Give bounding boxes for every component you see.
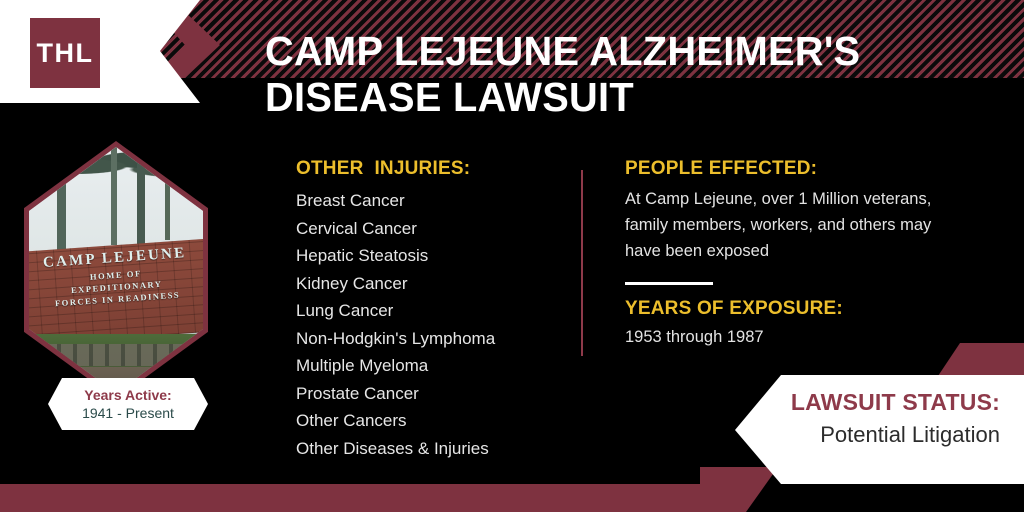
stone-border (29, 344, 203, 366)
lawsuit-status-banner: LAWSUIT STATUS: Potential Litigation (735, 375, 1024, 484)
list-item: Non-Hodgkin's Lymphoma (296, 325, 571, 353)
list-item: Other Cancers (296, 407, 571, 435)
tree-trunk (57, 147, 66, 250)
page-title: CAMP LEJEUNE ALZHEIMER'S DISEASE LAWSUIT (265, 28, 963, 120)
list-item: Lung Cancer (296, 297, 571, 325)
years-active-label: Years Active: (84, 387, 171, 404)
tree-trunk (165, 147, 170, 240)
years-active-value: 1941 - Present (82, 404, 174, 422)
horizontal-divider (625, 282, 713, 285)
lawsuit-status-label: LAWSUIT STATUS: (735, 389, 1000, 416)
people-effected-body: At Camp Lejeune, over 1 Million veterans… (625, 186, 955, 264)
camp-lejeune-photo: CAMP LEJEUNE HOME OF EXPEDITIONARY FORCE… (24, 141, 208, 399)
hexagon-photo-inner: CAMP LEJEUNE HOME OF EXPEDITIONARY FORCE… (29, 147, 203, 393)
thl-logo: THL (30, 18, 100, 88)
other-injuries-list: Breast Cancer Cervical Cancer Hepatic St… (296, 187, 571, 462)
list-item: Kidney Cancer (296, 270, 571, 298)
footer-bar (0, 484, 735, 512)
list-item: Multiple Myeloma (296, 352, 571, 380)
list-item: Other Diseases & Injuries (296, 435, 571, 463)
years-active-badge: Years Active: 1941 - Present (48, 378, 208, 430)
years-of-exposure-value: 1953 through 1987 (625, 325, 955, 349)
people-effected-heading: PEOPLE EFFECTED: (625, 158, 955, 180)
right-info-column: PEOPLE EFFECTED: At Camp Lejeune, over 1… (625, 158, 955, 349)
list-item: Prostate Cancer (296, 380, 571, 408)
vertical-divider (581, 170, 583, 356)
lawsuit-status-value: Potential Litigation (735, 422, 1000, 448)
years-of-exposure-heading: YEARS OF EXPOSURE: (625, 298, 955, 320)
list-item: Hepatic Steatosis (296, 242, 571, 270)
logo-text: THL (37, 38, 94, 69)
list-item: Cervical Cancer (296, 215, 571, 243)
other-injuries-heading: OTHER INJURIES: (296, 158, 571, 180)
list-item: Breast Cancer (296, 187, 571, 215)
other-injuries-section: OTHER INJURIES: Breast Cancer Cervical C… (296, 158, 571, 462)
tree-trunk (111, 147, 117, 245)
accent-shape-bottom (700, 467, 778, 512)
infographic-canvas: THL CAMP LEJEUNE ALZHEIMER'S DISEASE LAW… (0, 0, 1024, 512)
